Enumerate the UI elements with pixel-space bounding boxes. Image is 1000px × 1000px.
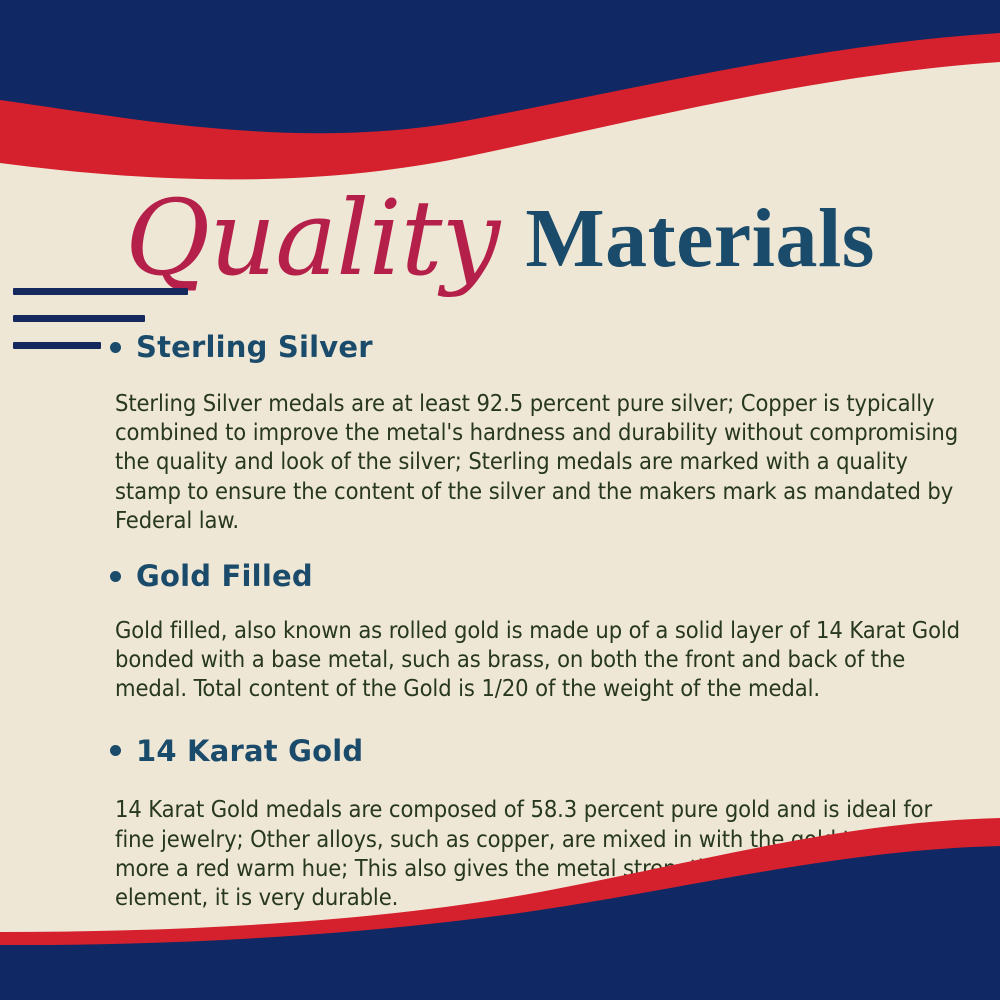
decorative-rule-long <box>13 288 188 295</box>
list-item: Sterling Silver Sterling Silver medals a… <box>0 330 1000 535</box>
materials-list: Sterling Silver Sterling Silver medals a… <box>0 322 1000 912</box>
section-header-gold-filled: Gold Filled <box>0 559 1000 594</box>
poster-canvas: Quality Materials Sterling Silver Sterli… <box>0 0 1000 1000</box>
section-body-14-karat-gold: 14 Karat Gold medals are composed of 58.… <box>0 795 1000 912</box>
section-title-14-karat-gold: 14 Karat Gold <box>136 734 363 769</box>
bullet-icon <box>110 745 121 756</box>
section-header-sterling-silver: Sterling Silver <box>0 330 1000 365</box>
section-title-sterling-silver: Sterling Silver <box>136 330 373 365</box>
decorative-rule-medium <box>13 315 145 322</box>
section-header-14-karat-gold: 14 Karat Gold <box>0 734 1000 769</box>
list-item: 14 Karat Gold 14 Karat Gold medals are c… <box>0 734 1000 913</box>
list-item: Gold Filled Gold filled, also known as r… <box>0 559 1000 704</box>
top-wave-svg <box>0 0 1000 200</box>
top-wave-bands <box>0 0 1000 200</box>
bullet-icon <box>110 342 121 353</box>
title-serif-word: Materials <box>525 197 875 281</box>
section-body-sterling-silver: Sterling Silver medals are at least 92.5… <box>0 389 1000 535</box>
top-red-band <box>0 0 1000 179</box>
top-navy-band <box>0 0 1000 133</box>
title-script-word: Quality <box>125 186 499 290</box>
bullet-icon <box>110 571 121 582</box>
section-title-gold-filled: Gold Filled <box>136 559 313 594</box>
section-body-gold-filled: Gold filled, also known as rolled gold i… <box>0 616 1000 704</box>
